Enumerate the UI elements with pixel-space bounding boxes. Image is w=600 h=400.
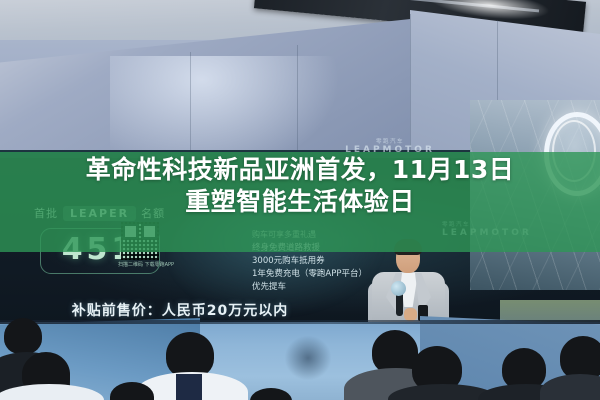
- qr-code-caption: 扫描二维码 下载零跑APP: [118, 262, 188, 269]
- event-photo-with-banner: 零跑汽车 LEAPMOTOR 零跑汽车 LEAPMOTOR 首批 LEAPER …: [0, 0, 600, 400]
- banner-headline: 革命性科技新品亚洲首发，11月13日 重塑智能生活体验日: [0, 154, 600, 218]
- price-line: 补贴前售价：人民币20万元以内: [0, 300, 360, 320]
- stage-edge: [0, 320, 600, 324]
- banner-headline-line1: 革命性科技新品亚洲首发，11月13日: [86, 155, 515, 184]
- stage-shadow: [285, 336, 331, 380]
- banner-headline-line2: 重塑智能生活体验日: [0, 186, 600, 218]
- audience-lanyard: [176, 374, 202, 400]
- audience-head: [4, 318, 42, 354]
- microphone-head-icon: [391, 281, 406, 296]
